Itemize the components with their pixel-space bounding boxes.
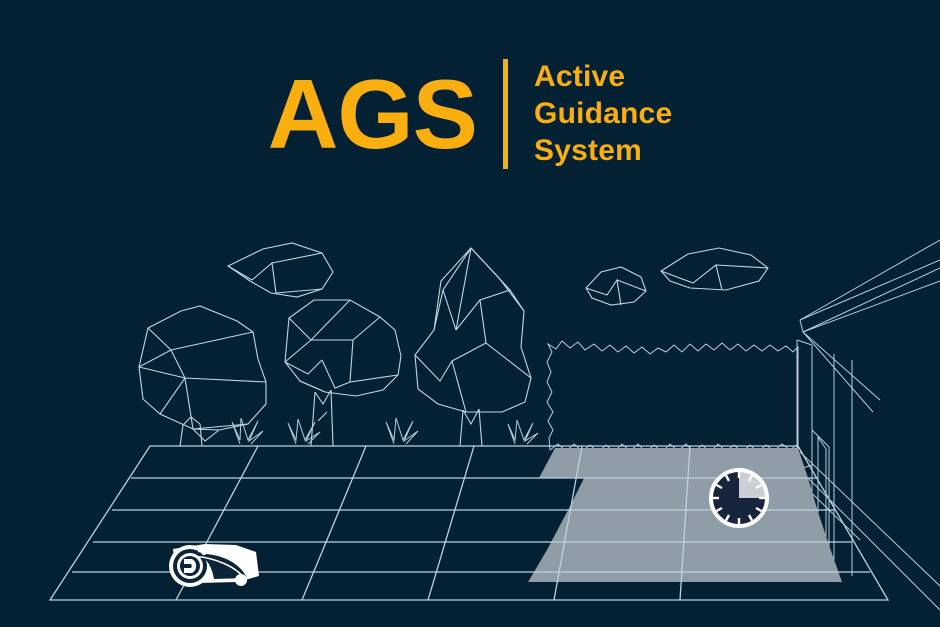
hedge [547,341,798,452]
logo-wordmark: Active Guidance System [534,58,672,169]
tree-right [415,248,531,446]
grass-tuft [386,418,418,444]
logo-lockup: AGS Active Guidance System [0,58,940,169]
logo-word-line-1: Active [534,58,672,95]
cloud-left [228,243,333,297]
grass-tuft [288,419,320,444]
grass-tuft [508,420,538,444]
logo-divider [503,59,508,169]
mowed-region [486,448,842,582]
cloud-right-large [661,248,768,290]
robot-mower [169,544,259,587]
logo-acronym: AGS [268,65,503,163]
clock [711,470,767,526]
cloud-right-small [586,267,646,305]
logo-word-line-3: System [534,132,672,169]
illustration-canvas: AGS Active Guidance System [0,0,940,627]
logo-word-line-2: Guidance [534,95,672,132]
grass-tuft [232,418,263,444]
tree-middle [285,300,401,446]
tree-left [139,306,266,446]
